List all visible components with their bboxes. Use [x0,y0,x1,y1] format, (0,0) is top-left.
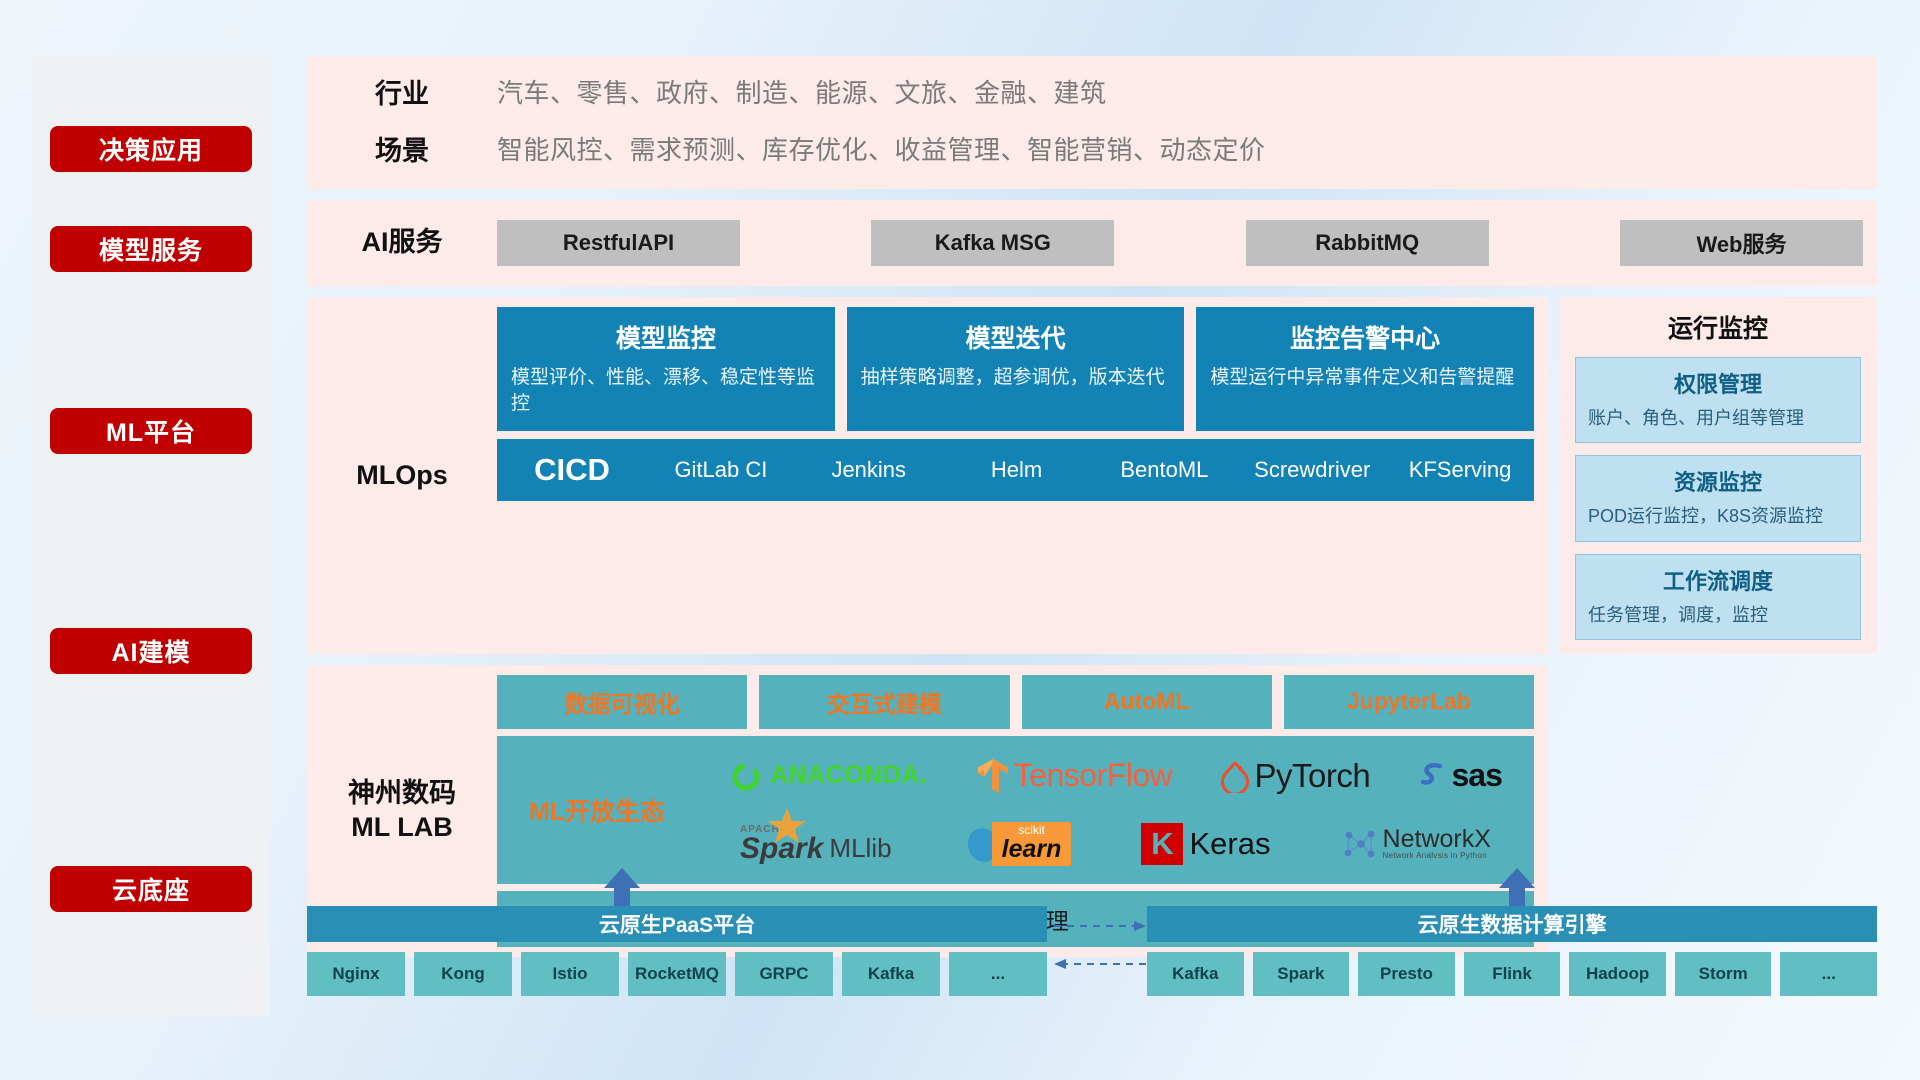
scenario-label: 场景 [307,129,497,168]
keras-logo: K Keras [1141,823,1270,865]
card-desc: POD运行监控，K8S资源监控 [1588,504,1848,528]
ml-open-ecosystem-box: ML开放生态 ANACONDA. [497,736,1534,884]
cloud-paas-chip-list: Nginx Kong Istio RocketMQ GRPC Kafka ... [307,952,1047,996]
mlops-card-model-monitoring[interactable]: 模型监控 模型评价、性能、漂移、稳定性等监控 [497,307,835,431]
runtime-monitor-panel: 运行监控 权限管理 账户、角色、用户组等管理 资源监控 POD运行监控，K8S资… [1559,297,1877,654]
cloud-chip-rocketmq[interactable]: RocketMQ [628,952,726,996]
cloud-chip-istio[interactable]: Istio [521,952,619,996]
card-title: 资源监控 [1588,465,1848,497]
anaconda-logo: ANACONDA. [729,759,927,793]
card-desc: 任务管理，调度，监控 [1588,603,1848,627]
cloud-chip-presto[interactable]: Presto [1358,952,1455,996]
keras-wordmark: Keras [1189,826,1270,862]
monitor-card-resource[interactable]: 资源监控 POD运行监控，K8S资源监控 [1575,455,1861,541]
layer-chip-cloud-base[interactable]: 云底座 [50,866,252,912]
tensorflow-logo: TensorFlow [976,757,1173,795]
cicd-bar: CICD GitLab CI Jenkins Helm BentoML Scre… [497,439,1534,501]
ai-service-chip-restfulapi[interactable]: RestfulAPI [497,220,740,266]
mlops-card-model-iteration[interactable]: 模型迭代 抽样策略调整，超参调优，版本迭代 [847,307,1185,431]
spark-mllib-logo: APACHE Spark MLlib [740,824,892,864]
cloud-chip-spark[interactable]: Spark [1253,952,1350,996]
networkx-tagline: Network Analvsis in Python [1383,852,1491,860]
card-desc: 抽样策略调整，超参调优，版本迭代 [861,365,1171,391]
lab-tool-interactive-modeling[interactable]: 交互式建模 [759,675,1009,729]
ai-service-chip-kafka-msg[interactable]: Kafka MSG [871,220,1114,266]
cloud-chip-storm[interactable]: Storm [1675,952,1772,996]
cloud-data-engine-group: 云原生数据计算引擎 Kafka Spark Presto Flink Hadoo… [1147,906,1877,996]
card-title: 模型监控 [511,319,821,355]
layer-chip-model-service[interactable]: 模型服务 [50,226,252,272]
cloud-chip-hadoop[interactable]: Hadoop [1569,952,1666,996]
layer-rail: 决策应用 模型服务 ML平台 AI建模 云底座 [32,56,270,1016]
layer-chip-ml-platform[interactable]: ML平台 [50,408,252,454]
mlops-label: MLOps [307,297,497,654]
pytorch-logo: PyTorch [1221,757,1371,795]
ecosystem-logo-row-2: APACHE Spark MLlib [705,810,1526,878]
scikit-learn-logo: scikit learn [962,822,1072,866]
cloud-paas-group: 云原生PaaS平台 Nginx Kong Istio RocketMQ GRPC… [307,906,1047,996]
scenario-values: 智能风控、需求预测、库存优化、收益管理、智能营销、动态定价 [497,130,1266,167]
ai-service-band: AI服务 RestfulAPI Kafka MSG RabbitMQ Web服务 [307,200,1877,286]
cicd-item-screwdriver[interactable]: Screwdriver [1238,459,1386,481]
industry-values: 汽车、零售、政府、制造、能源、文旅、金融、建筑 [497,73,1107,110]
tensorflow-icon [976,757,1010,795]
arrow-up-paas [602,868,642,910]
dashed-arrows-between-clouds [1052,912,1148,978]
cloud-chip-more-right[interactable]: ... [1780,952,1877,996]
arrow-up-data-engine [1497,868,1537,910]
card-title: 监控告警中心 [1210,319,1520,355]
mlops-row: MLOps 模型监控 模型评价、性能、漂移、稳定性等监控 模型迭代 抽样策略调整… [307,297,1877,654]
cloud-chip-kafka[interactable]: Kafka [842,952,940,996]
cicd-item-gitlab-ci[interactable]: GitLab CI [647,459,795,481]
ecosystem-logo-grid: ANACONDA. TensorFlow [697,736,1534,884]
card-title: 模型迭代 [861,319,1171,355]
cloud-foundation-zone: 云原生PaaS平台 Nginx Kong Istio RocketMQ GRPC… [307,880,1877,1040]
cicd-item-jenkins[interactable]: Jenkins [795,459,943,481]
cicd-item-bentoml[interactable]: BentoML [1090,459,1238,481]
ai-service-label: AI服务 [307,226,497,260]
lab-tool-data-visualization[interactable]: 数据可视化 [497,675,747,729]
ai-service-chip-web[interactable]: Web服务 [1620,220,1863,266]
card-desc: 账户、角色、用户组等管理 [1588,406,1848,430]
pytorch-icon [1221,759,1249,793]
architecture-stack: 行业 汽车、零售、政府、制造、能源、文旅、金融、建筑 场景 智能风控、需求预测、… [307,56,1877,957]
lab-tool-list: 数据可视化 交互式建模 AutoML JupyterLab [497,675,1534,729]
ml-lab-label-line2: ML LAB [351,812,453,842]
cloud-chip-more-left[interactable]: ... [949,952,1047,996]
ml-lab-label-line1: 神州数码 [348,778,456,808]
cloud-paas-title: 云原生PaaS平台 [307,906,1047,942]
networkx-logo: NetworkX Network Analvsis in Python [1341,825,1491,863]
pytorch-wordmark: PyTorch [1255,757,1371,795]
spark-star-icon [766,806,808,848]
cicd-item-helm[interactable]: Helm [943,459,1091,481]
industry-label: 行业 [307,72,497,111]
keras-mark-icon: K [1141,823,1183,865]
layer-chip-ai-modeling[interactable]: AI建模 [50,628,252,674]
tensorflow-wordmark: TensorFlow [1014,757,1173,794]
cloud-data-engine-chip-list: Kafka Spark Presto Flink Hadoop Storm ..… [1147,952,1877,996]
cicd-label: CICD [497,452,647,488]
industry-scenario-band: 行业 汽车、零售、政府、制造、能源、文旅、金融、建筑 场景 智能风控、需求预测、… [307,56,1877,189]
ai-service-chip-list: RestfulAPI Kafka MSG RabbitMQ Web服务 [497,220,1877,266]
mlops-card-alert-center[interactable]: 监控告警中心 模型运行中异常事件定义和告警提醒 [1196,307,1534,431]
cloud-chip-nginx[interactable]: Nginx [307,952,405,996]
anaconda-wordmark: ANACONDA. [770,761,927,790]
card-desc: 模型运行中异常事件定义和告警提醒 [1210,365,1520,391]
mllib-wordmark: MLlib [829,833,891,864]
networkx-wordmark: NetworkX [1383,827,1491,852]
card-title: 权限管理 [1588,367,1848,399]
monitor-card-permission[interactable]: 权限管理 账户、角色、用户组等管理 [1575,357,1861,443]
lab-tool-automl[interactable]: AutoML [1022,675,1272,729]
monitor-card-workflow[interactable]: 工作流调度 任务管理，调度，监控 [1575,554,1861,640]
runtime-monitor-title: 运行监控 [1575,309,1861,345]
networkx-graph-icon [1341,825,1379,863]
anaconda-icon [729,759,763,793]
cicd-item-list: GitLab CI Jenkins Helm BentoML Screwdriv… [647,459,1534,481]
sas-logo: sas [1418,757,1501,794]
sas-icon [1418,760,1448,792]
ml-open-ecosystem-label: ML开放生态 [497,792,697,828]
cloud-chip-flink[interactable]: Flink [1464,952,1561,996]
sas-wordmark: sas [1451,757,1501,794]
ai-service-chip-rabbitmq[interactable]: RabbitMQ [1246,220,1489,266]
mlops-band: MLOps 模型监控 模型评价、性能、漂移、稳定性等监控 模型迭代 抽样策略调整… [307,297,1548,654]
mlops-card-list: 模型监控 模型评价、性能、漂移、稳定性等监控 模型迭代 抽样策略调整，超参调优，… [497,307,1534,431]
ecosystem-logo-row-1: ANACONDA. TensorFlow [705,742,1526,810]
scikit-learn-wordmark: learn [1002,837,1062,862]
card-desc: 模型评价、性能、漂移、稳定性等监控 [511,365,821,416]
scenario-row: 场景 智能风控、需求预测、库存优化、收益管理、智能营销、动态定价 [307,129,1877,168]
cloud-chip-kong[interactable]: Kong [414,952,512,996]
cloud-chip-grpc[interactable]: GRPC [735,952,833,996]
cloud-data-engine-title: 云原生数据计算引擎 [1147,906,1877,942]
layer-chip-decision[interactable]: 决策应用 [50,126,252,172]
card-title: 工作流调度 [1588,564,1848,596]
cicd-item-kfserving[interactable]: KFServing [1386,459,1534,481]
cloud-chip-kafka-right[interactable]: Kafka [1147,952,1244,996]
industry-row: 行业 汽车、零售、政府、制造、能源、文旅、金融、建筑 [307,72,1877,111]
lab-tool-jupyterlab[interactable]: JupyterLab [1284,675,1534,729]
